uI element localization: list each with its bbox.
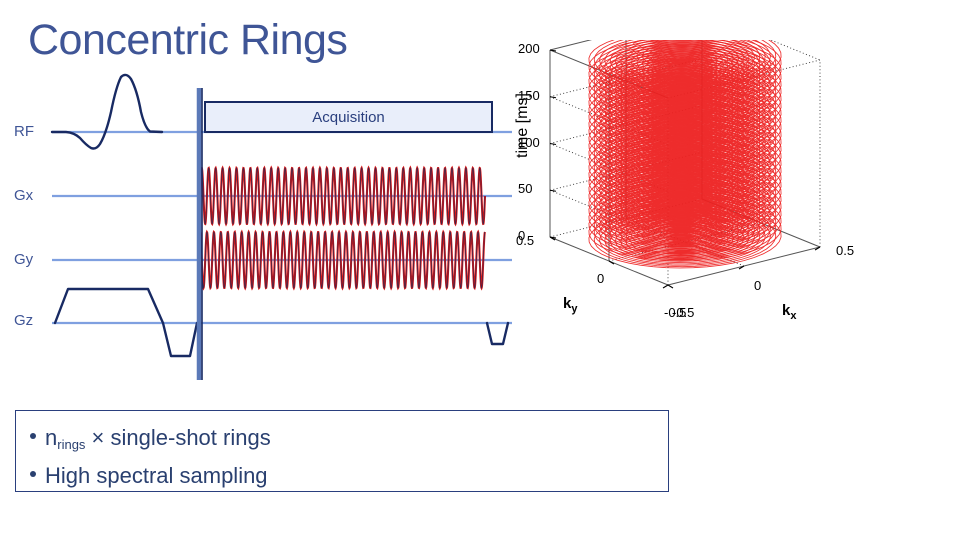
bullet-dot-icon (30, 433, 36, 439)
channel-label-rf: RF (14, 123, 34, 140)
plot-ztick-200: 200 (518, 41, 540, 56)
rf-pulse-waveform (52, 75, 162, 149)
ky-sub: y (571, 303, 577, 315)
gz-end-rewinder-waveform (487, 323, 508, 344)
channel-label-gz: Gz (14, 312, 33, 329)
plot-ytick-0: 0 (597, 271, 604, 286)
acquisition-label: Acquisition (312, 109, 385, 126)
page-title: Concentric Rings (28, 18, 347, 63)
k-space-trajectory-svg (520, 40, 960, 390)
slide-canvas: Concentric Rings (0, 0, 960, 540)
pulse-sequence-diagram: RF Gx Gy Gz Acquisition (0, 60, 530, 390)
bullet-dot-icon (30, 471, 36, 477)
channel-label-gx: Gx (14, 187, 33, 204)
k-space-trajectory-plot: time [ms] 200 150 100 50 0 0.5 0 -0.5 -0… (520, 40, 960, 390)
plot-xtick-0: 0 (754, 278, 761, 293)
list-item: High spectral sampling (30, 457, 654, 495)
acquisition-window-box: Acquisition (204, 101, 493, 133)
plot-ztick-150: 150 (518, 88, 540, 103)
channel-baselines (52, 132, 512, 323)
bullet-text-1: nrings × single-shot rings (45, 419, 271, 457)
plot-ztick-100: 100 (518, 135, 540, 150)
bullet-2-prefix: High spectral sampling (45, 463, 268, 488)
plot-ztick-50: 50 (518, 181, 532, 196)
bullet-text-2: High spectral sampling (45, 457, 268, 495)
plot-xtick-m0p5: -0.5 (672, 305, 694, 320)
plot-yaxis-title: ky (563, 295, 577, 315)
bullet-1-suffix: × single-shot rings (85, 425, 270, 450)
bullet-1-sub: rings (57, 437, 85, 452)
gx-oscillating-gradient (200, 168, 485, 224)
kx-sub: x (790, 310, 796, 322)
bullet-list-box: nrings × single-shot rings High spectral… (15, 410, 669, 492)
plot-xtick-0p5: 0.5 (836, 243, 854, 258)
bullet-1-prefix: n (45, 425, 57, 450)
channel-label-gy: Gy (14, 251, 33, 268)
plot-xaxis-title: kx (782, 302, 796, 322)
list-item: nrings × single-shot rings (30, 419, 654, 457)
plot-ytick-0p5: 0.5 (516, 233, 534, 248)
